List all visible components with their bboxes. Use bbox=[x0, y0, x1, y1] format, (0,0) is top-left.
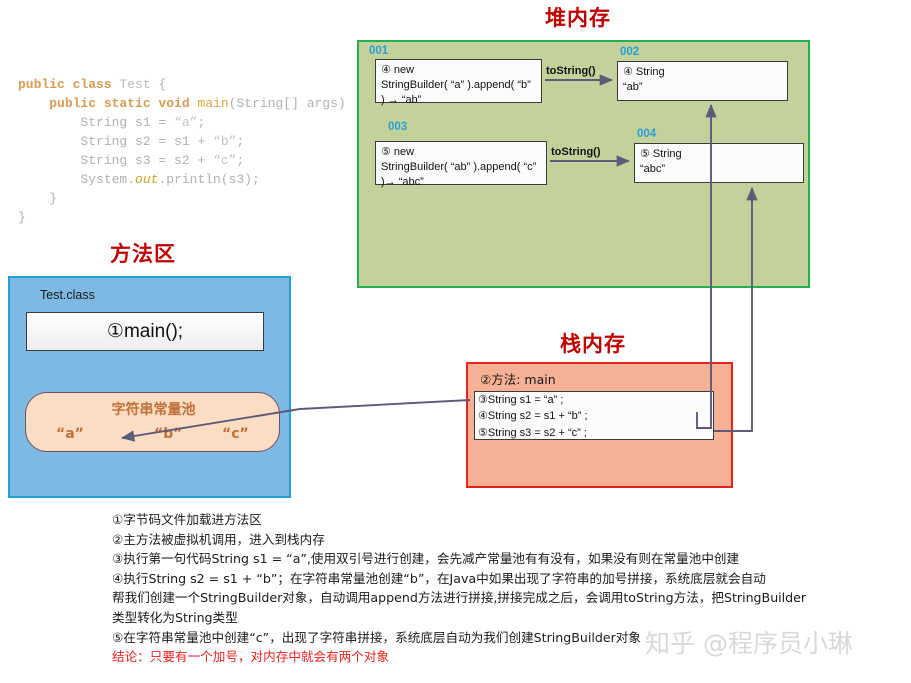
heap-object-003: ⑤ new StringBuilder( “ab” ).append( “c” … bbox=[375, 141, 547, 185]
heap-object-003-line2: StringBuilder( “ab” ).append( “c” )→ “ab… bbox=[381, 160, 541, 190]
string-constant-pool-title: 字符串常量池 bbox=[26, 399, 281, 419]
stack-statement-1: ③String s1 = “a” ; bbox=[478, 392, 713, 408]
watermark: 知乎 @程序员小琳 bbox=[645, 624, 853, 660]
explanation-line-1: ①字节码文件加载进方法区 bbox=[112, 510, 902, 530]
main-method-box: ①main(); bbox=[26, 312, 264, 351]
string-constant-pool: 字符串常量池 “a” “b” “c” bbox=[25, 392, 280, 452]
method-area-region bbox=[8, 276, 291, 498]
heap-object-004-line2: “abc” bbox=[640, 162, 798, 177]
stack-frame-label: ②方法: main bbox=[480, 369, 556, 388]
heap-object-001: ④ new StringBuilder( “a” ).append( “b” )… bbox=[375, 59, 542, 103]
stack-statement-3: ⑤String s3 = s2 + “c” ; bbox=[478, 425, 713, 441]
heap-object-002-line1: ④ String bbox=[623, 65, 782, 80]
heap-section-title: 堆内存 bbox=[545, 2, 611, 32]
stack-statement-2: ④String s2 = s1 + “b” ; bbox=[478, 408, 713, 424]
pool-string-a: “a” bbox=[56, 426, 84, 442]
explanation-line-2: ②主方法被虚拟机调用，进入到栈内存 bbox=[112, 530, 902, 550]
heap-object-002-line2: “ab” bbox=[623, 80, 782, 95]
tostring-edge-label-1: toString() bbox=[546, 65, 595, 77]
heap-object-004: ⑤ String “abc” bbox=[634, 143, 804, 183]
stack-section-title: 栈内存 bbox=[560, 328, 626, 358]
java-code-block: public class Test { public static void m… bbox=[18, 56, 358, 227]
pool-string-b: “b” bbox=[154, 426, 182, 442]
heap-object-004-line1: ⑤ String bbox=[640, 147, 798, 162]
heap-address-003: 003 bbox=[388, 121, 407, 133]
pool-string-c: “c” bbox=[222, 426, 249, 442]
heap-object-001-line1: ④ new bbox=[381, 63, 536, 78]
method-area-section-title: 方法区 bbox=[110, 238, 176, 268]
tostring-edge-label-2: toString() bbox=[551, 146, 600, 158]
heap-address-004: 004 bbox=[637, 128, 656, 140]
heap-address-001: 001 bbox=[369, 45, 388, 57]
explanation-line-5: 帮我们创建一个StringBuilder对象，自动调用append方法进行拼接,… bbox=[112, 588, 902, 608]
heap-object-003-line1: ⑤ new bbox=[381, 145, 541, 160]
heap-address-002: 002 bbox=[620, 46, 639, 58]
explanation-line-3: ③执行第一句代码String s1 = “a”,使用双引号进行创建，会先减产常量… bbox=[112, 549, 902, 569]
explanation-line-4: ④执行String s2 = s1 + “b”；在字符串常量池创建“b”，在Ja… bbox=[112, 569, 902, 589]
test-class-label: Test.class bbox=[40, 288, 95, 302]
heap-object-001-line2: StringBuilder( “a” ).append( “b” ) → “ab… bbox=[381, 78, 536, 108]
heap-object-002: ④ String “ab” bbox=[617, 61, 788, 101]
stack-statements-box: ③String s1 = “a” ; ④String s2 = s1 + “b”… bbox=[474, 391, 714, 440]
